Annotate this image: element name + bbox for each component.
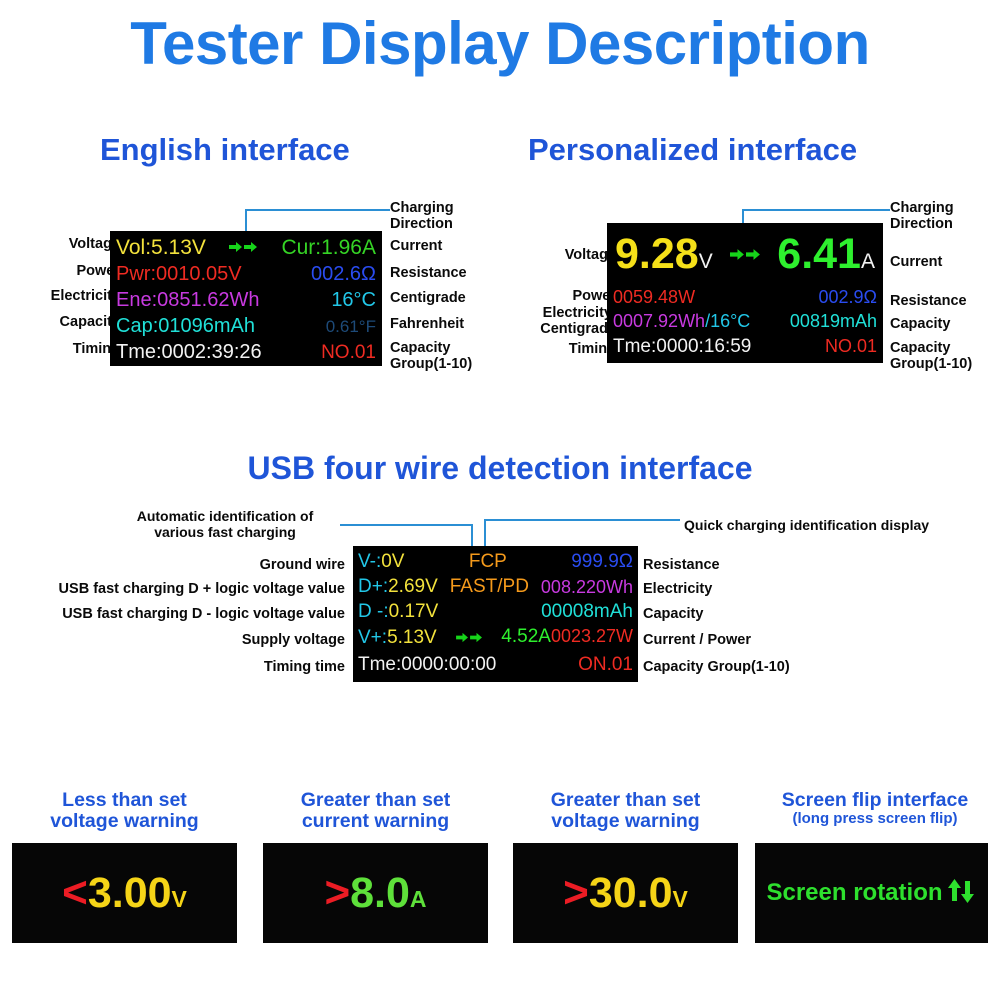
warning-title-2-line2: voltage warning [513,811,738,832]
lcd-personalized-interface: 9.28V 6.41A 0059.48W 002.9Ω 0007.92Wh/16… [607,223,883,363]
lcd-en-current: Cur:1.96A [281,237,376,258]
lcd-usb-row-4: V+:5.13V 4.52A0023.27W [353,624,638,650]
lcd-en-row-2: Pwr:0010.05V 002.6Ω [110,261,382,287]
callout-line-fast-charging [340,524,473,526]
warning-title-0-line2: voltage warning [12,811,237,832]
label-electricity-en: Electricity [14,288,120,304]
warning-comparator-0: < [62,868,88,917]
label-timing-en: Timing [20,341,120,357]
label-power-pz: Power [520,288,616,304]
warning-comparator-1: > [324,868,350,917]
label-charging-direction-pz-line1: Charging [890,200,954,216]
label-capacity-group-pz: Capacity Group(1-10) [890,340,972,372]
callout-line-quick-charging [484,519,680,521]
label-charging-direction-en-line1: Charging [390,200,454,216]
lcd-pz-voltage-value: 9.28 [615,230,699,278]
lcd-usb-timing: Tme:0000:00:00 [358,655,496,674]
warning-panel-0: <3.00V [12,843,237,943]
lcd-pz-row-timing: Tme:0000:16:59 NO.01 [607,333,883,359]
lcd-pz-group: NO.01 [825,337,877,355]
label-electricity-centigrade-pz: Electricity/ Centigrade [505,305,616,337]
lcd-en-row-4: Cap:01096mAh 0.61°F [110,313,382,339]
label-voltage-pz: Voltage [520,247,616,263]
charging-direction-arrows-en [229,241,258,253]
lcd-pz-power: 0059.48W [613,288,695,306]
warning-number-2: 30.0 [589,869,673,917]
screen-rotation-indicator: Screen rotation [766,875,976,911]
lcd-usb-group: ON.01 [578,655,633,674]
label-current-en: Current [390,238,442,254]
lcd-en-centigrade: 16°C [331,290,376,310]
lcd-usb-capacity: 00008mAh [541,602,633,621]
callout-automatic-identification-line2: various fast charging [110,525,340,541]
warning-number-0: 3.00 [88,869,172,917]
lcd-pz-current-group: 6.41A [777,233,875,276]
label-resistance-en: Resistance [390,265,467,281]
warning-title-2-line1: Greater than set [513,790,738,811]
warning-value-1: >8.0A [324,871,426,915]
label-dminus-logic-voltage: USB fast charging D - logic voltage valu… [10,606,345,622]
lcd-en-group: NO.01 [321,343,376,362]
warning-panel-1: >8.0A [263,843,488,943]
label-charging-direction-en: Charging Direction [390,200,454,232]
callout-line-charging-direction-en [245,209,390,211]
lcd-pz-timing: Tme:0000:16:59 [613,337,751,356]
label-power-en: Power [20,263,120,279]
charging-direction-arrows-usb [456,632,483,643]
lcd-pz-row-energy: 0007.92Wh/16°C 00819mAh [607,309,883,333]
callout-line-charging-direction-en-vertical [245,209,247,231]
warning-title-0-line1: Less than set [12,790,237,811]
label-capacity-group-en-line1: Capacity [390,340,472,356]
lcd-usb-interface: V-:0V FCP 999.9Ω D+:2.69V FAST/PD 008.22… [353,546,638,682]
lcd-en-voltage: Vol:5.13V [116,237,206,258]
label-electricity-usb: Electricity [643,581,712,597]
label-electricity-pz-line2: Centigrade [505,321,616,337]
label-capacity-usb: Capacity [643,606,703,622]
lcd-usb-current: 4.52A [501,626,551,647]
warning-title-3-line1: Screen flip interface [755,790,995,811]
warning-title-3: Screen flip interface (long press screen… [755,790,995,828]
lcd-pz-voltage-unit: V [699,250,713,273]
label-resistance-pz: Resistance [890,293,967,309]
page-title: Tester Display Description [0,12,1000,75]
screen-rotation-label: Screen rotation [766,881,942,905]
label-capacity-en: Capacity [20,314,120,330]
lcd-usb-current-power-group: 4.52A0023.27W [501,627,633,647]
label-centigrade-en: Centigrade [390,290,466,306]
label-capacity-group-en-line2: Group(1-10) [390,356,472,372]
lcd-usb-dplus: D+:2.69V [358,577,438,596]
label-electricity-pz-line1: Electricity/ [505,305,616,321]
label-fahrenheit-en: Fahrenheit [390,316,464,332]
label-capacity-pz: Capacity [890,316,950,332]
lcd-usb-row-1: V-:0V FCP 999.9Ω [353,548,638,574]
warning-title-1-line2: current warning [263,811,488,832]
warning-unit-0: V [172,886,187,912]
label-current-pz: Current [890,254,942,270]
label-timing-time: Timing time [10,659,345,675]
label-capacity-group-en: Capacity Group(1-10) [390,340,472,372]
lcd-en-power: Pwr:0010.05V [116,264,242,284]
callout-automatic-identification: Automatic identification of various fast… [110,509,340,540]
lcd-usb-power: 0023.27W [551,626,633,646]
lcd-pz-voltage-group: 9.28V [615,233,713,276]
warning-title-1-line1: Greater than set [263,790,488,811]
warning-panel-3: Screen rotation [755,843,988,943]
warning-subtitle-3: (long press screen flip) [755,811,995,828]
lcd-en-resistance: 002.6Ω [311,264,376,284]
label-charging-direction-pz-line2: Direction [890,216,954,232]
lcd-pz-row-power: 0059.48W 002.9Ω [607,285,883,309]
label-voltage-en: Voltage [20,236,120,252]
label-supply-voltage: Supply voltage [10,632,345,648]
lcd-usb-fcp: FCP [469,552,507,571]
lcd-usb-fastpd: FAST/PD [450,577,529,596]
lcd-en-row-3: Ene:0851.62Wh 16°C [110,287,382,313]
warning-value-2: >30.0V [563,871,688,915]
lcd-usb-supply-voltage: V+:5.13V [358,628,437,647]
lcd-pz-resistance: 002.9Ω [819,288,878,306]
warning-title-2: Greater than set voltage warning [513,790,738,832]
warning-unit-2: V [673,886,688,912]
lcd-en-capacity: Cap:01096mAh [116,316,255,336]
warning-unit-1: A [410,886,427,912]
lcd-en-row-5: Tme:0002:39:26 NO.01 [110,339,382,365]
warning-title-1: Greater than set current warning [263,790,488,832]
lcd-usb-row-2: D+:2.69V FAST/PD 008.220Wh [353,574,638,599]
lcd-pz-capacity: 00819mAh [790,312,877,330]
lcd-english-interface: Vol:5.13V Cur:1.96A Pwr:0010.05V 002.6Ω … [110,231,382,366]
lcd-en-fahrenheit: 0.61°F [326,318,376,335]
section-title-personalized: Personalized interface [528,134,857,167]
label-dplus-logic-voltage: USB fast charging D + logic voltage valu… [10,581,345,597]
label-capacity-group-usb: Capacity Group(1-10) [643,659,790,675]
lcd-pz-current-unit: A [861,250,875,273]
label-ground-wire: Ground wire [10,557,345,573]
label-capacity-group-pz-line1: Capacity [890,340,972,356]
warning-comparator-2: > [563,868,589,917]
label-charging-direction-pz: Charging Direction [890,200,954,232]
label-timing-pz: Timing [520,341,616,357]
lcd-pz-row-main: 9.28V 6.41A [607,228,883,280]
warning-title-0: Less than set voltage warning [12,790,237,832]
label-capacity-group-pz-line2: Group(1-10) [890,356,972,372]
lcd-pz-energy: 0007.92Wh/16°C [613,312,750,330]
lcd-usb-resistance: 999.9Ω [571,552,633,571]
lcd-en-timing: Tme:0002:39:26 [116,342,262,362]
label-resistance-usb: Resistance [643,557,720,573]
lcd-usb-row-5: Tme:0000:00:00 ON.01 [353,650,638,678]
label-current-power-usb: Current / Power [643,632,751,648]
callout-automatic-identification-line1: Automatic identification of [110,509,340,525]
lcd-usb-electricity: 008.220Wh [541,578,633,596]
warning-panel-2: >30.0V [513,843,738,943]
warning-value-0: <3.00V [62,871,187,915]
callout-quick-charging-display: Quick charging identification display [684,518,929,534]
callout-line-charging-direction-pz [742,209,890,211]
lcd-en-row-1: Vol:5.13V Cur:1.96A [110,233,382,261]
section-title-english: English interface [100,134,350,167]
label-charging-direction-en-line2: Direction [390,216,454,232]
lcd-usb-dminus: D -:0.17V [358,602,438,621]
warning-number-1: 8.0 [350,869,410,917]
lcd-en-energy: Ene:0851.62Wh [116,290,259,310]
rotate-icon [945,875,977,911]
charging-direction-arrows-pz [730,248,761,261]
lcd-usb-row-3: D -:0.17V 00008mAh [353,599,638,624]
lcd-usb-ground-wire: V-:0V [358,552,404,571]
lcd-pz-current-value: 6.41 [777,230,861,278]
section-title-usb: USB four wire detection interface [0,452,1000,486]
